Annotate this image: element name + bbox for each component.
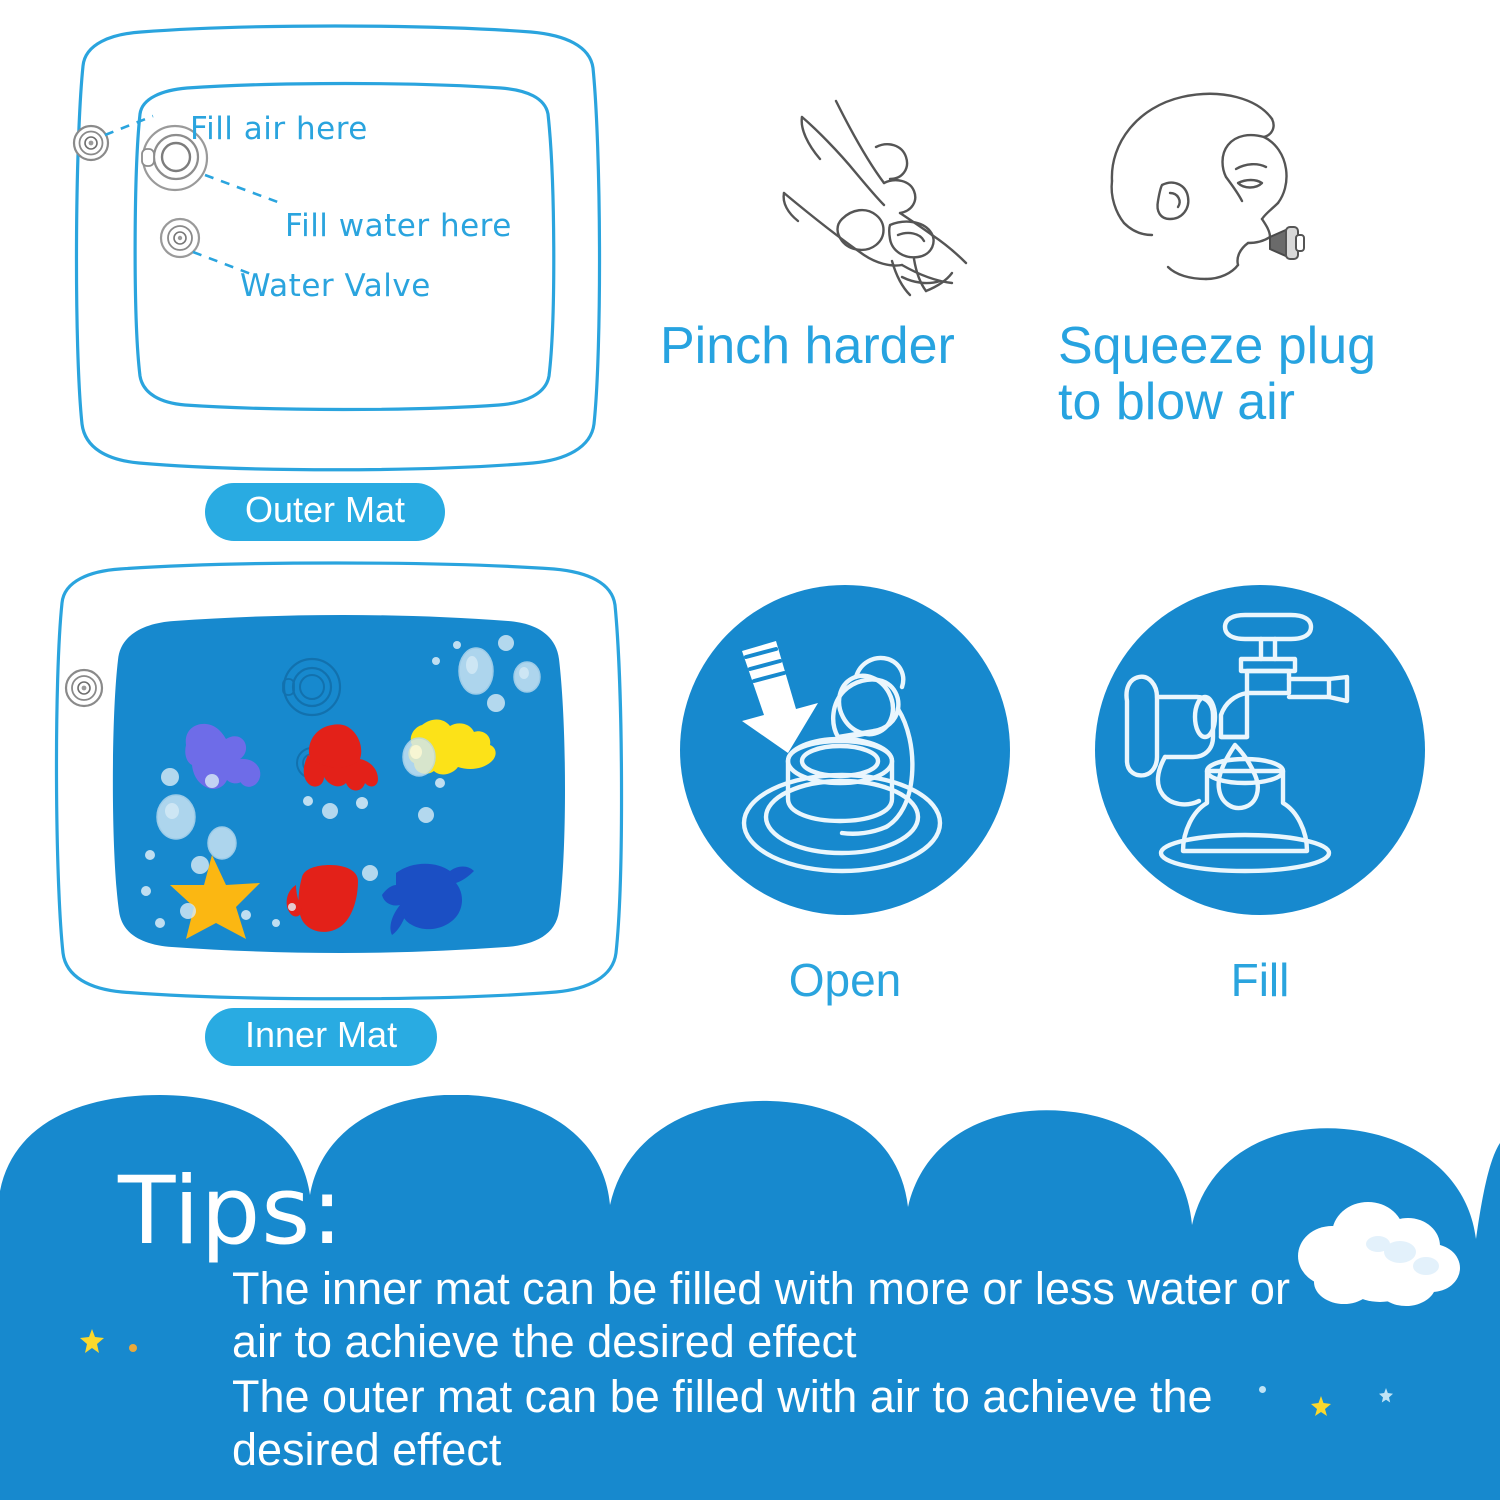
cloud-icon xyxy=(1280,1190,1470,1315)
callout-fill-water: Fill water here xyxy=(285,208,512,244)
sparkle-star-icon xyxy=(78,1327,106,1355)
inner-mat-svg xyxy=(40,555,640,1005)
label-squeeze-plug: Squeeze plug to blow air xyxy=(1058,318,1376,430)
badge-outer-mat: Outer Mat xyxy=(205,483,445,541)
head-blowing-sketch-icon xyxy=(1090,85,1350,310)
valve-plug-icon xyxy=(1270,227,1304,259)
leader-line-fill-water xyxy=(205,175,283,204)
outer-mat-diagram: Fill air here Fill water here Water Valv… xyxy=(45,18,625,478)
step-fill-icon-circle xyxy=(1095,585,1425,915)
faucet-water-drop-icon xyxy=(1095,585,1425,915)
tips-panel: Tips: The inner mat can be filled with m… xyxy=(0,1095,1500,1500)
label-pinch-harder: Pinch harder xyxy=(660,318,955,374)
callout-water-valve: Water Valve xyxy=(240,268,431,304)
air-valve-icon xyxy=(74,126,108,160)
sparkle-dot-icon xyxy=(128,1343,138,1353)
pinch-harder-illustration xyxy=(780,95,1000,300)
sparkle-dot-small-icon xyxy=(1258,1385,1267,1394)
squeeze-plug-illustration xyxy=(1090,85,1350,310)
tip-item-2: The outer mat can be filled with air to … xyxy=(232,1371,1352,1476)
tips-heading: Tips: xyxy=(118,1165,344,1259)
pinch-hand-sketch-icon xyxy=(780,95,1000,300)
valve-open-arrow-icon xyxy=(680,585,1010,915)
instruction-sheet: Fill air here Fill water here Water Valv… xyxy=(0,0,1500,1500)
down-arrow-icon xyxy=(742,641,818,753)
inner-mat-air-valve-icon xyxy=(66,670,102,706)
label-fill: Fill xyxy=(1095,953,1425,1007)
inner-mat-diagram xyxy=(40,555,640,1005)
step-open-icon-circle xyxy=(680,585,1010,915)
leader-line-fill-air xyxy=(105,116,153,135)
callout-fill-air: Fill air here xyxy=(190,111,368,147)
sparkle-star-small-icon xyxy=(1310,1395,1332,1417)
label-open: Open xyxy=(680,953,1010,1007)
outer-mat-outline-svg xyxy=(45,18,625,478)
tip-item-1: The inner mat can be filled with more or… xyxy=(232,1263,1352,1368)
badge-inner-mat: Inner Mat xyxy=(205,1008,437,1066)
sparkle-star-tiny-icon xyxy=(1378,1387,1394,1403)
